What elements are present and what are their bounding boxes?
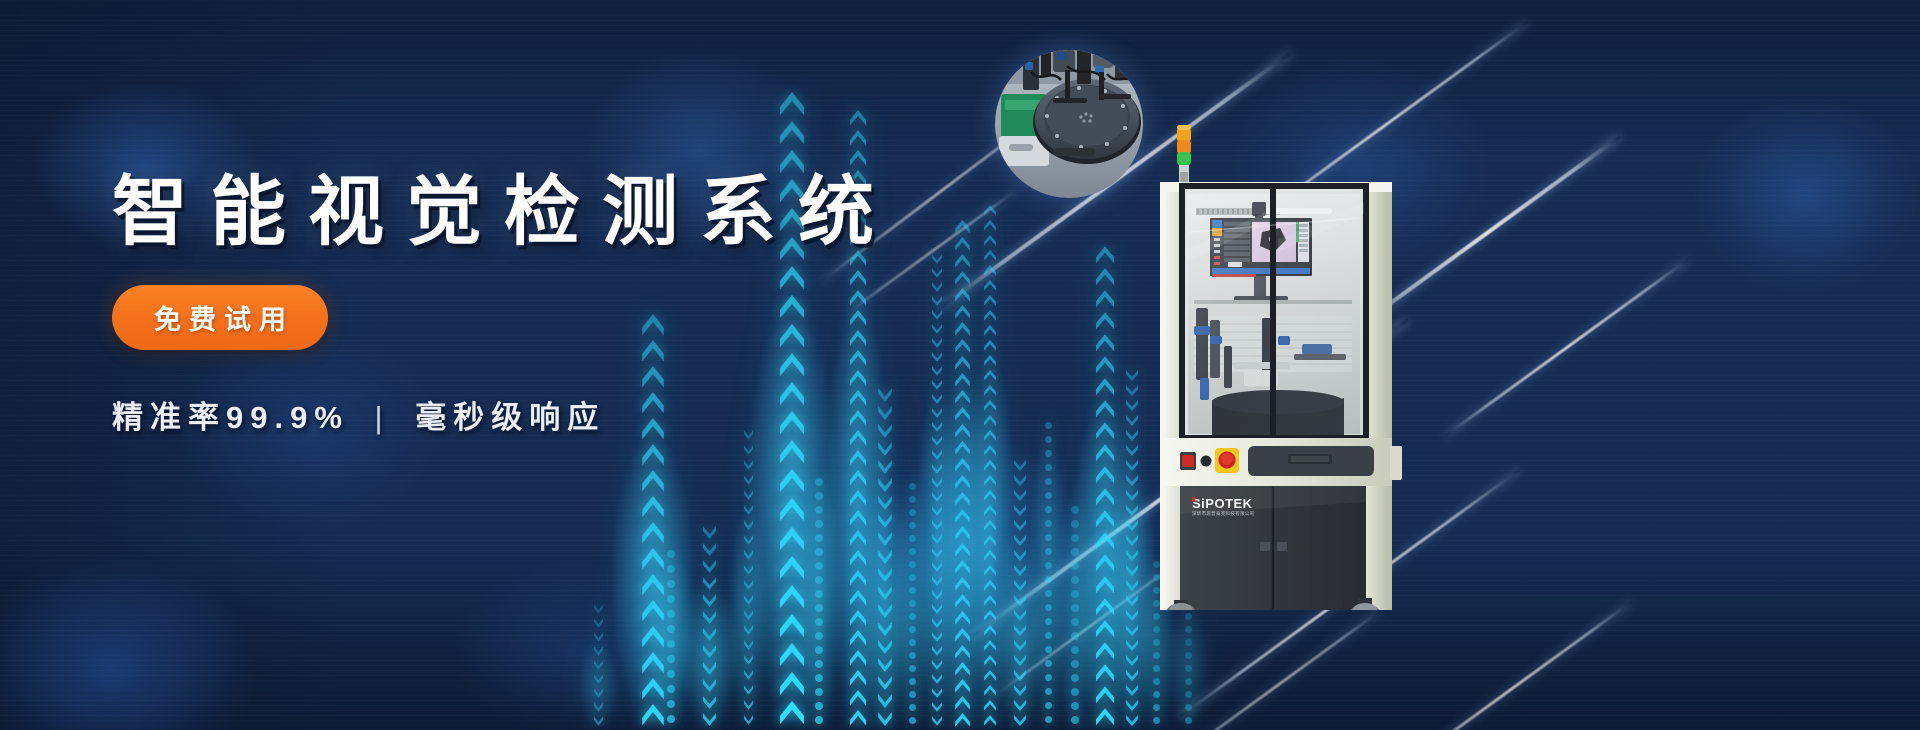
dot-icon — [815, 590, 823, 598]
dot-icon — [909, 626, 916, 633]
chevron-up-icon — [984, 250, 996, 261]
chevron-up-icon — [642, 548, 664, 570]
chevron-down-icon — [594, 632, 603, 642]
dot-icon — [909, 522, 916, 529]
chevron-up-icon — [850, 490, 866, 506]
cabinet-handle-left — [1260, 542, 1270, 551]
chevron-up-icon — [984, 415, 996, 426]
dot-icon — [1071, 674, 1079, 682]
dot-icon — [1071, 702, 1079, 710]
dot-icon — [909, 561, 916, 568]
chevron-up-icon — [984, 535, 996, 546]
chevron-down-icon — [1126, 580, 1138, 591]
dot-icon — [1071, 646, 1079, 654]
chevron-up-icon — [984, 340, 996, 351]
dot-icon — [667, 715, 675, 723]
chevron-down-icon — [703, 526, 716, 539]
dot-icon — [1185, 678, 1192, 685]
chevron-down-icon — [932, 674, 942, 684]
dot-icon — [815, 604, 823, 612]
dot-icon — [1153, 717, 1160, 724]
dot-icon — [909, 548, 916, 555]
chevron-down-icon — [744, 715, 753, 725]
chevron-up-icon — [984, 235, 996, 246]
chevron-down-icon — [878, 532, 892, 546]
dot-icon — [815, 520, 823, 528]
dot-icon — [1153, 678, 1160, 685]
chevron-column — [1182, 600, 1194, 730]
chevron-up-icon — [780, 498, 804, 522]
chevron-down-icon — [744, 685, 753, 695]
chevron-down-icon — [744, 670, 753, 680]
dot-icon — [909, 613, 916, 620]
dot-icon — [667, 655, 675, 663]
chevron-up-icon — [850, 570, 866, 586]
chevron-up-icon — [955, 611, 970, 625]
chevron-down-icon — [932, 646, 942, 656]
chevron-up-icon — [850, 150, 866, 166]
glass-enclosure — [1182, 186, 1366, 438]
chevron-up-icon — [955, 458, 970, 472]
chevron-up-icon — [984, 520, 996, 531]
dot-icon — [667, 700, 675, 708]
dot-icon — [667, 640, 675, 648]
dot-icon — [815, 506, 823, 514]
chevron-down-icon — [878, 478, 892, 492]
chevron-down-icon — [878, 550, 892, 564]
chevron-up-icon — [984, 400, 996, 411]
chevron-down-icon — [878, 496, 892, 510]
chevron-up-icon — [955, 492, 970, 506]
dot-icon — [1045, 716, 1052, 723]
chevron-up-icon — [1096, 312, 1114, 330]
chevron-down-icon — [744, 505, 753, 515]
chevron-down-icon — [1014, 520, 1026, 531]
chevron-up-icon — [780, 527, 804, 551]
dot-icon — [1153, 704, 1160, 711]
dot-icon — [815, 632, 823, 640]
chevron-down-icon — [744, 610, 753, 620]
chevron-down-icon — [1014, 640, 1026, 651]
chevron-down-icon — [932, 576, 942, 586]
chevron-down-icon — [744, 535, 753, 545]
subtitle-divider: | — [365, 400, 400, 435]
dot-icon — [1071, 562, 1079, 570]
dot-icon — [909, 574, 916, 581]
dot-icon — [1071, 534, 1079, 542]
dot-icon — [1071, 688, 1079, 696]
chevron-up-icon — [1096, 466, 1114, 484]
chevron-down-icon — [1014, 700, 1026, 711]
chevron-down-icon — [703, 679, 716, 692]
chevron-up-icon — [1096, 400, 1114, 418]
chevron-down-icon — [744, 700, 753, 710]
glass-door-mullion — [1270, 186, 1276, 438]
chevron-down-icon — [878, 658, 892, 672]
dot-icon — [1153, 613, 1160, 620]
dot-icon — [1045, 674, 1052, 681]
chevron-up-icon — [955, 475, 970, 489]
dot-icon — [1071, 632, 1079, 640]
chevron-up-icon — [1096, 664, 1114, 682]
dot-icon — [1045, 450, 1052, 457]
chevron-down-icon — [932, 478, 942, 488]
chevron-down-icon — [878, 676, 892, 690]
cabinet-left-post — [1160, 182, 1182, 610]
chevron-up-icon — [780, 701, 804, 725]
chevron-down-icon — [878, 442, 892, 456]
chevron-up-icon — [1096, 620, 1114, 638]
chevron-down-icon — [1014, 505, 1026, 516]
chevron-down-icon — [1126, 400, 1138, 411]
chevron-down-icon — [744, 595, 753, 605]
chevron-column — [700, 580, 718, 730]
chevron-down-icon — [932, 506, 942, 516]
chevron-down-icon — [1126, 625, 1138, 636]
dot-icon — [1045, 520, 1052, 527]
chevron-down-icon — [1126, 490, 1138, 501]
chevron-down-icon — [932, 492, 942, 502]
chevron-up-icon — [780, 643, 804, 667]
dot-icon — [909, 665, 916, 672]
dot-icon — [909, 652, 916, 659]
chevron-up-icon — [850, 710, 866, 726]
chevron-up-icon — [1096, 378, 1114, 396]
chevron-up-icon — [850, 690, 866, 706]
chevron-down-icon — [744, 475, 753, 485]
subtitle-latency: 毫秒级响应 — [415, 400, 605, 435]
chevron-up-icon — [955, 543, 970, 557]
free-trial-button[interactable]: 免费试用 — [112, 285, 328, 350]
chevron-down-icon — [744, 655, 753, 665]
dot-icon — [815, 674, 823, 682]
dot-icon — [1045, 562, 1052, 569]
chevron-up-icon — [984, 490, 996, 501]
chevron-down-icon — [932, 464, 942, 474]
dot-icon — [667, 595, 675, 603]
chevron-down-icon — [1126, 505, 1138, 516]
chevron-up-icon — [642, 704, 664, 726]
dot-icon — [815, 660, 823, 668]
chevron-up-icon — [984, 205, 996, 216]
chevron-up-icon — [642, 678, 664, 700]
chevron-up-icon — [850, 630, 866, 646]
chevron-up-icon — [1096, 510, 1114, 528]
dot-icon — [815, 478, 823, 486]
dot-icon — [1045, 590, 1052, 597]
chevron-up-icon — [1096, 576, 1114, 594]
chevron-up-icon — [780, 585, 804, 609]
emergency-stop-button — [1215, 448, 1239, 473]
dot-icon — [1185, 613, 1192, 620]
dot-icon — [909, 717, 916, 724]
hero-content: 智能视觉检测系统 免费试用 精准率99.9% | 毫秒级响应 — [112, 175, 972, 437]
chevron-down-icon — [1014, 580, 1026, 591]
dot-icon — [815, 618, 823, 626]
chevron-down-icon — [1014, 685, 1026, 696]
chevron-down-icon — [703, 594, 716, 607]
chevron-down-icon — [594, 618, 603, 628]
dot-icon — [1153, 639, 1160, 646]
chevron-down-icon — [1014, 670, 1026, 681]
dot-icon — [667, 625, 675, 633]
chevron-down-icon — [1126, 610, 1138, 621]
dot-icon — [1045, 702, 1052, 709]
chevron-up-icon — [1096, 334, 1114, 352]
chevron-up-icon — [1096, 554, 1114, 572]
chevron-up-icon — [984, 460, 996, 471]
chevron-up-icon — [984, 430, 996, 441]
chevron-up-icon — [984, 355, 996, 366]
chevron-down-icon — [878, 640, 892, 654]
chevron-down-icon — [1126, 655, 1138, 666]
dot-icon — [1153, 652, 1160, 659]
dot-icon — [815, 548, 823, 556]
chevron-down-icon — [594, 646, 603, 656]
chevron-down-icon — [1126, 460, 1138, 471]
dot-icon — [1045, 492, 1052, 499]
chevron-down-icon — [744, 490, 753, 500]
chevron-down-icon — [1014, 550, 1026, 561]
dot-icon — [815, 702, 823, 710]
chevron-column — [640, 430, 666, 730]
chevron-up-icon — [1096, 268, 1114, 286]
dot-icon — [1153, 626, 1160, 633]
chevron-up-icon — [642, 496, 664, 518]
chevron-up-icon — [984, 280, 996, 291]
chevron-up-icon — [850, 110, 866, 126]
dot-icon — [909, 535, 916, 542]
dot-icon — [1045, 632, 1052, 639]
chevron-up-icon — [850, 650, 866, 666]
inset-photo-rotary-fixture — [995, 50, 1143, 198]
chevron-down-icon — [1126, 385, 1138, 396]
chevron-down-icon — [1126, 475, 1138, 486]
chevron-down-icon — [744, 625, 753, 635]
chevron-down-icon — [1014, 625, 1026, 636]
dot-icon — [1071, 604, 1079, 612]
chevron-down-icon — [594, 604, 603, 614]
chevron-down-icon — [878, 604, 892, 618]
chevron-down-icon — [932, 450, 942, 460]
chevron-up-icon — [850, 670, 866, 686]
chevron-down-icon — [1014, 565, 1026, 576]
cabinet-right-post — [1366, 182, 1392, 610]
chevron-up-icon — [1096, 356, 1114, 374]
chevron-up-icon — [642, 574, 664, 596]
dot-icon — [667, 580, 675, 588]
chevron-up-icon — [984, 505, 996, 516]
chevron-up-icon — [1096, 708, 1114, 726]
chevron-down-icon — [703, 713, 716, 726]
dot-icon — [1071, 576, 1079, 584]
chevron-up-icon — [642, 600, 664, 622]
chevron-down-icon — [1014, 655, 1026, 666]
dot-icon — [1185, 652, 1192, 659]
chevron-down-icon — [594, 660, 603, 670]
chevron-down-icon — [1126, 370, 1138, 381]
dot-icon — [815, 492, 823, 500]
chevron-up-icon — [955, 628, 970, 642]
chevron-up-icon — [984, 475, 996, 486]
chevron-up-icon — [984, 220, 996, 231]
chevron-up-icon — [984, 625, 996, 636]
dot-icon — [1045, 618, 1052, 625]
chevron-column — [1068, 500, 1082, 730]
chevron-down-icon — [932, 604, 942, 614]
chevron-column — [1094, 396, 1116, 730]
dot-icon — [909, 509, 916, 516]
dot-icon — [1071, 618, 1079, 626]
dot-icon — [1185, 639, 1192, 646]
dot-icon — [1045, 548, 1052, 555]
dot-icon — [1185, 717, 1192, 724]
chevron-up-icon — [780, 92, 804, 116]
chevron-down-icon — [1014, 610, 1026, 621]
chevron-up-icon — [984, 445, 996, 456]
chevron-up-icon — [850, 130, 866, 146]
chevron-down-icon — [1126, 520, 1138, 531]
side-bracket — [1390, 446, 1402, 480]
dot-icon — [815, 576, 823, 584]
dot-icon — [1045, 436, 1052, 443]
chevron-up-icon — [984, 565, 996, 576]
dot-icon — [1071, 506, 1079, 514]
chevron-up-icon — [955, 560, 970, 574]
chevron-up-icon — [1096, 598, 1114, 616]
chevron-column — [1012, 530, 1028, 730]
chevron-down-icon — [594, 688, 603, 698]
dot-icon — [909, 704, 916, 711]
chevron-up-icon — [850, 450, 866, 466]
chevron-up-icon — [780, 440, 804, 464]
dot-icon — [909, 587, 916, 594]
chevron-down-icon — [1126, 550, 1138, 561]
chevron-down-icon — [878, 694, 892, 708]
chevron-up-icon — [1096, 642, 1114, 660]
chevron-down-icon — [744, 580, 753, 590]
dot-icon — [1045, 688, 1052, 695]
page-title: 智能视觉检测系统 — [112, 175, 972, 251]
chevron-down-icon — [878, 460, 892, 474]
chevron-column — [982, 344, 998, 730]
chevron-down-icon — [878, 622, 892, 636]
dot-icon — [1045, 604, 1052, 611]
chevron-up-icon — [642, 522, 664, 544]
chevron-up-icon — [984, 685, 996, 696]
dot-icon — [1185, 626, 1192, 633]
chevron-down-icon — [932, 548, 942, 558]
rotary-fixture-illustration — [995, 50, 1143, 198]
dot-icon — [667, 565, 675, 573]
chevron-column — [742, 500, 754, 730]
chevron-up-icon — [642, 626, 664, 648]
dot-icon — [1071, 548, 1079, 556]
dot-icon — [667, 685, 675, 693]
dot-icon — [909, 496, 916, 503]
chevron-up-icon — [850, 610, 866, 626]
dot-icon — [909, 691, 916, 698]
chevron-down-icon — [932, 702, 942, 712]
cabinet-handle-right — [1277, 542, 1287, 551]
chevron-down-icon — [878, 568, 892, 582]
chevron-down-icon — [878, 712, 892, 726]
chevron-up-icon — [642, 470, 664, 492]
dot-icon — [909, 678, 916, 685]
chevron-down-icon — [1014, 490, 1026, 501]
dot-icon — [1071, 520, 1079, 528]
chevron-down-icon — [1126, 670, 1138, 681]
dot-icon — [1153, 665, 1160, 672]
dot-icon — [909, 600, 916, 607]
dot-icon — [1071, 716, 1079, 724]
chevron-up-icon — [1096, 686, 1114, 704]
hero-banner: SiPOTEK 深圳市思普泰克科技有限公司 — [0, 0, 1920, 730]
chevron-down-icon — [703, 543, 716, 556]
chevron-down-icon — [878, 586, 892, 600]
chevron-column — [1042, 422, 1054, 730]
chevron-up-icon — [1096, 290, 1114, 308]
chevron-down-icon — [703, 611, 716, 624]
chevron-up-icon — [984, 655, 996, 666]
status-tower-light — [1177, 125, 1191, 186]
chevron-column — [592, 640, 604, 730]
chevron-up-icon — [955, 594, 970, 608]
dot-icon — [1185, 665, 1192, 672]
inspection-machine-illustration: SiPOTEK 深圳市思普泰克科技有限公司 — [1152, 110, 1402, 610]
chevron-column — [1124, 460, 1140, 730]
dot-icon — [667, 550, 675, 558]
chevron-up-icon — [1096, 444, 1114, 462]
chevron-down-icon — [744, 640, 753, 650]
chevron-down-icon — [1126, 430, 1138, 441]
chevron-up-icon — [984, 385, 996, 396]
chevron-up-icon — [1096, 488, 1114, 506]
dot-icon — [1045, 506, 1052, 513]
chevron-up-icon — [984, 715, 996, 726]
dot-icon — [815, 646, 823, 654]
chevron-down-icon — [932, 632, 942, 642]
chevron-down-icon — [1126, 640, 1138, 651]
chevron-up-icon — [850, 470, 866, 486]
chevron-up-icon — [955, 509, 970, 523]
chevron-down-icon — [932, 436, 942, 446]
chevron-down-icon — [1126, 565, 1138, 576]
chevron-down-icon — [703, 560, 716, 573]
chevron-up-icon — [1096, 246, 1114, 264]
control-panel — [1160, 438, 1392, 486]
chevron-up-icon — [984, 370, 996, 381]
chevron-down-icon — [1014, 475, 1026, 486]
chevron-up-icon — [780, 614, 804, 638]
chevron-up-icon — [850, 550, 866, 566]
dot-icon — [1045, 576, 1052, 583]
dot-icon — [1045, 646, 1052, 653]
chevron-down-icon — [703, 577, 716, 590]
chevron-down-icon — [1014, 715, 1026, 726]
chevron-down-icon — [1126, 700, 1138, 711]
chevron-down-icon — [594, 716, 603, 726]
chevron-down-icon — [932, 660, 942, 670]
chevron-up-icon — [955, 441, 970, 455]
chevron-down-icon — [1014, 460, 1026, 471]
chevron-up-icon — [984, 670, 996, 681]
chevron-down-icon — [744, 445, 753, 455]
chevron-down-icon — [594, 702, 603, 712]
dot-icon — [1071, 590, 1079, 598]
chevron-up-icon — [984, 610, 996, 621]
chevron-up-icon — [955, 713, 970, 727]
